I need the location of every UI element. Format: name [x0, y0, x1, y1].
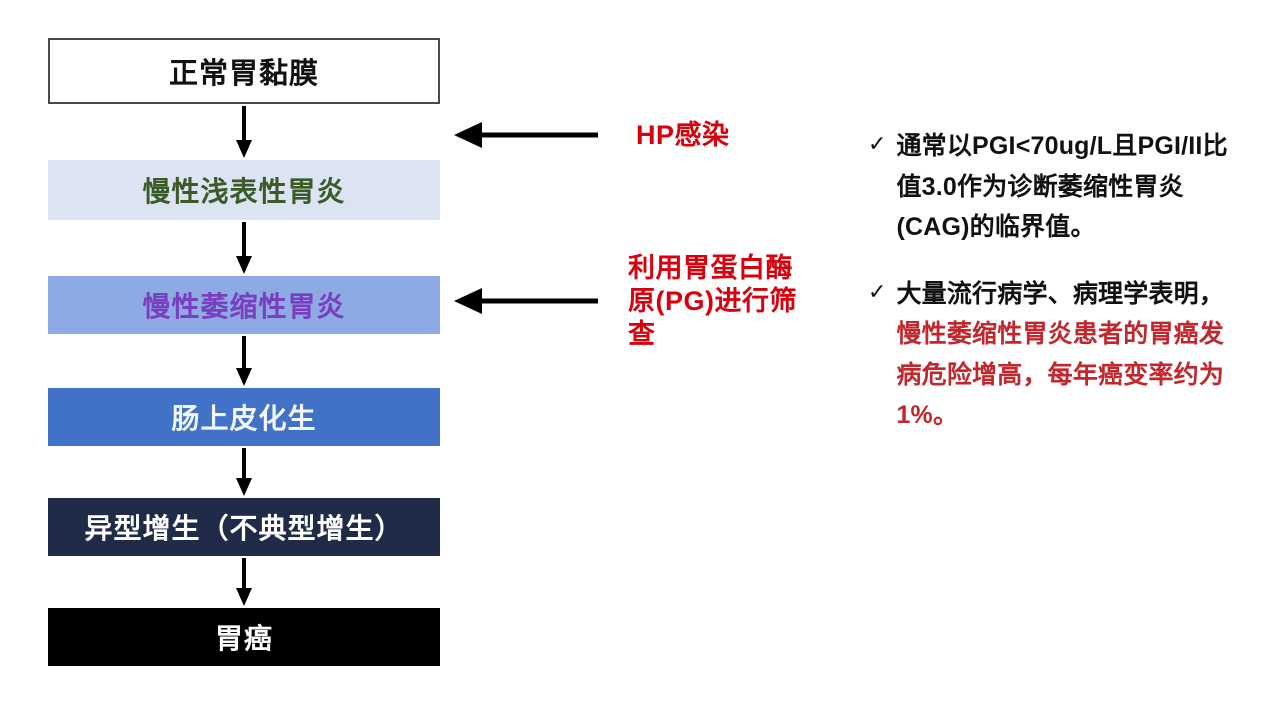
check-icon: ✓	[868, 126, 886, 162]
notes-panel: ✓ 通常以PGI<70ug/L且PGI/II比值3.0作为诊断萎缩性胃炎(CAG…	[868, 126, 1236, 462]
left-arrow-icon	[452, 284, 600, 318]
flow-arrow-1	[48, 104, 440, 160]
flow-step-gastric-cancer: 胃癌	[48, 608, 440, 666]
flow-step-label: 正常胃黏膜	[169, 50, 319, 92]
flow-step-dysplasia: 异型增生（不典型增生）	[48, 498, 440, 556]
check-icon: ✓	[868, 274, 886, 310]
note-item-cag-cancer-risk: ✓ 大量流行病学、病理学表明，慢性萎缩性胃炎患者的胃癌发病危险增高，每年癌变率约…	[868, 274, 1236, 436]
note-item-pg-threshold: ✓ 通常以PGI<70ug/L且PGI/II比值3.0作为诊断萎缩性胃炎(CAG…	[868, 126, 1236, 248]
gastric-cancer-cascade-flowchart: 正常胃黏膜 慢性浅表性胃炎 慢性萎缩性胃炎	[48, 38, 440, 666]
flow-arrow-2	[48, 220, 440, 276]
note-text: 通常以PGI<70ug/L且PGI/II比值3.0作为诊断萎缩性胃炎(CAG)的…	[896, 126, 1236, 248]
flow-step-label: 异型增生（不典型增生）	[84, 507, 403, 547]
flow-step-label: 肠上皮化生	[171, 397, 316, 437]
annotation-pg-screening: 利用胃蛋白酶 原(PG)进行筛 查	[452, 252, 872, 351]
flow-step-chronic-superficial-gastritis: 慢性浅表性胃炎	[48, 160, 440, 220]
flow-step-chronic-atrophic-gastritis: 慢性萎缩性胃炎	[48, 276, 440, 334]
flow-step-normal-mucosa: 正常胃黏膜	[48, 38, 440, 104]
flow-arrow-3	[48, 334, 440, 388]
flow-step-intestinal-metaplasia: 肠上皮化生	[48, 388, 440, 446]
note-text: 大量流行病学、病理学表明，慢性萎缩性胃炎患者的胃癌发病危险增高，每年癌变率约为1…	[896, 274, 1236, 436]
left-arrow-icon	[452, 118, 600, 152]
flow-step-label: 胃癌	[215, 617, 273, 657]
flow-arrow-5	[48, 556, 440, 608]
note-segment-black: 大量流行病学、病理学表明，	[896, 280, 1224, 308]
annotation-hp-infection-label: HP感染	[636, 119, 730, 152]
flow-step-label: 慢性萎缩性胃炎	[142, 285, 345, 325]
note-segment-black: 通常以PGI<70ug/L且PGI/II比值3.0作为诊断萎缩性胃炎(CAG)的…	[896, 132, 1227, 241]
annotation-pg-screening-label: 利用胃蛋白酶 原(PG)进行筛 查	[628, 252, 872, 351]
note-segment-red: 慢性萎缩性胃炎患者的胃癌发病危险增高，每年癌变率约为1%。	[896, 320, 1224, 429]
diagram-canvas: 正常胃黏膜 慢性浅表性胃炎 慢性萎缩性胃炎	[0, 0, 1280, 720]
flow-arrow-4	[48, 446, 440, 498]
flow-step-label: 慢性浅表性胃炎	[142, 170, 345, 210]
annotation-hp-infection: HP感染	[452, 118, 730, 152]
